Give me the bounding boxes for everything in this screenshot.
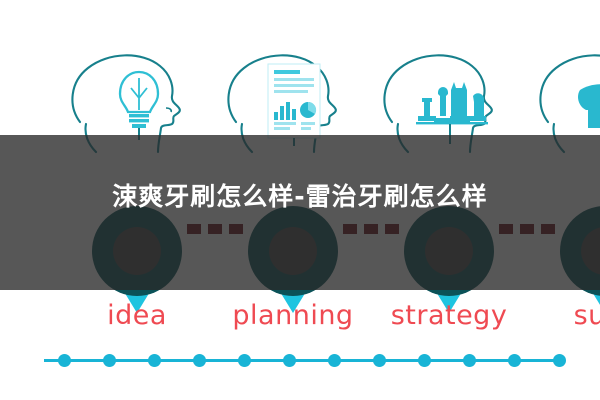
timeline-dot <box>103 354 116 367</box>
timeline-dot <box>58 354 71 367</box>
timeline-dot <box>373 354 386 367</box>
timeline-dot <box>238 354 251 367</box>
trophy-head-icon <box>530 48 600 148</box>
chess-head-icon <box>374 48 524 148</box>
timeline-dot <box>283 354 296 367</box>
lightbulb-head-icon <box>62 48 212 148</box>
timeline-dot <box>463 354 476 367</box>
timeline-dot <box>328 354 341 367</box>
timeline-dot <box>148 354 161 367</box>
page-title: 涑爽牙刷怎么样-雷治牙刷怎么样 <box>0 177 600 213</box>
infographic-screenshot: idea planning strategy succ 涑爽牙刷怎么样-雷治牙刷… <box>0 0 600 400</box>
document-head-icon <box>218 48 368 148</box>
bottom-timeline <box>0 352 600 368</box>
timeline-dot <box>418 354 431 367</box>
timeline-dot <box>193 354 206 367</box>
step-label-idea: idea <box>47 300 227 331</box>
step-label-planning: planning <box>203 300 383 331</box>
timeline-line <box>44 359 564 362</box>
timeline-dot <box>508 354 521 367</box>
timeline-dot <box>553 354 566 367</box>
step-label-strategy: strategy <box>359 300 539 331</box>
step-label-success: succ <box>515 300 600 331</box>
